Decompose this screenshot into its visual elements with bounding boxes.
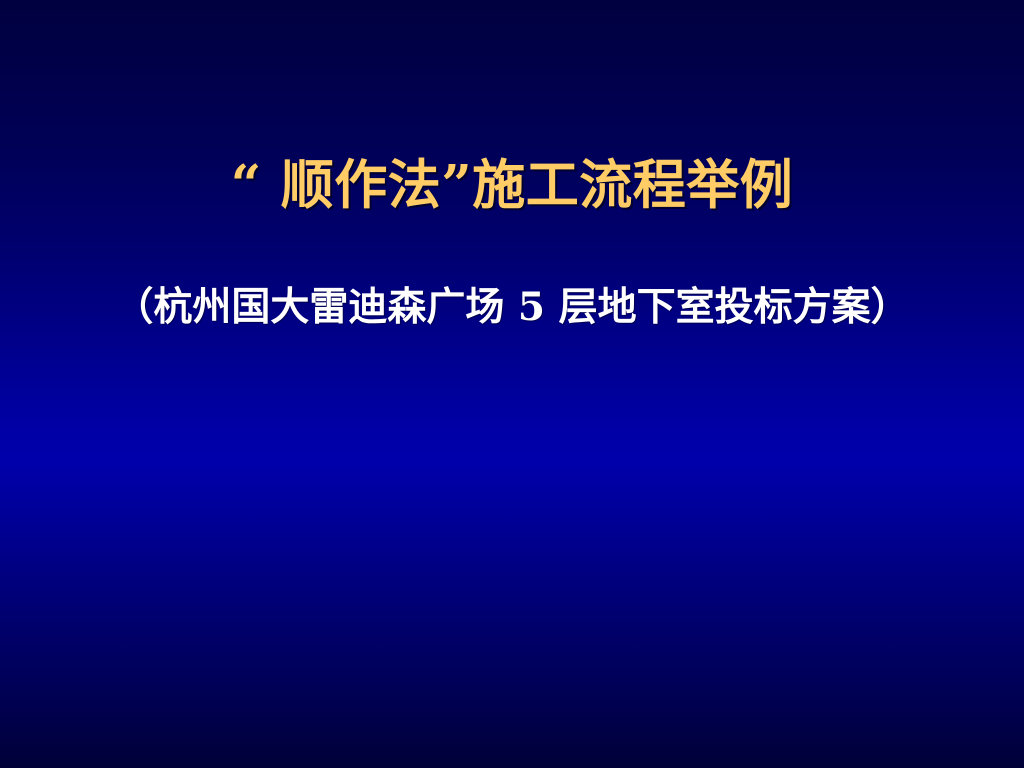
slide-subtitle: （杭州国大雷迪森广场 5 层地下室投标方案） [114, 286, 909, 329]
slide-title-placeholder[interactable]: “ 顺作法”施工流程举例 [0, 157, 1024, 214]
presentation-slide: “ 顺作法”施工流程举例 （杭州国大雷迪森广场 5 层地下室投标方案） [0, 0, 1024, 768]
slide-body-region [0, 360, 1024, 768]
page-title: “ 顺作法”施工流程举例 [231, 157, 793, 214]
slide-subtitle-placeholder[interactable]: （杭州国大雷迪森广场 5 层地下室投标方案） [0, 286, 1024, 329]
